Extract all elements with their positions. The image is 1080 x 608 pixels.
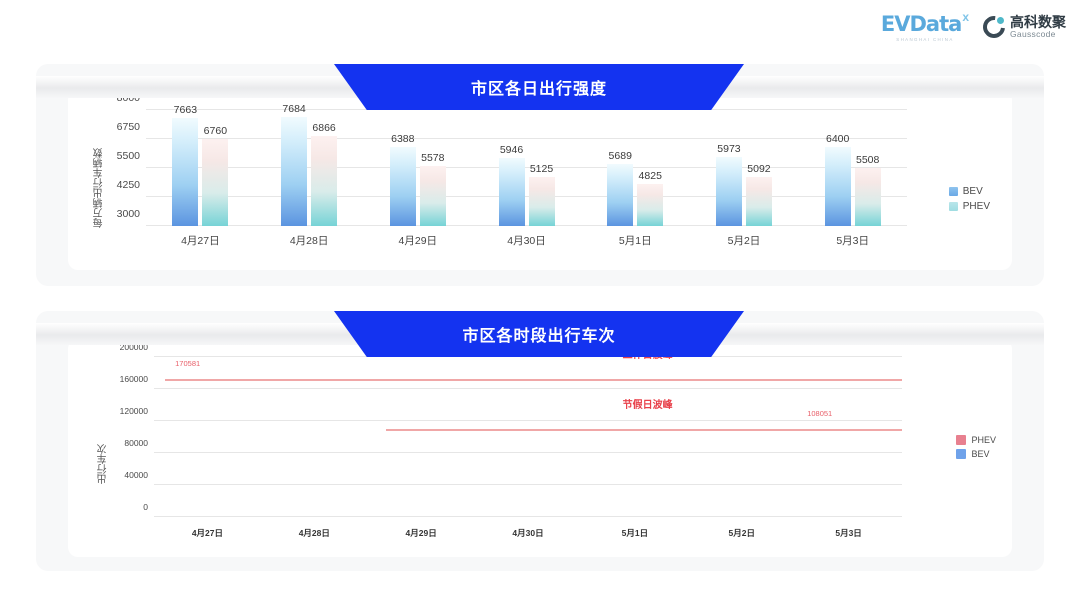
hourly-inner-card: 04000080000120000160000200000工作日波峰170581…: [68, 339, 1012, 557]
hourly-y-tick: 120000: [120, 406, 148, 416]
daily-legend-item-bev[interactable]: BEV: [949, 186, 990, 197]
hourly-y-axis-label: 出行车次: [96, 394, 111, 484]
daily-bar-phev[interactable]: 5092: [746, 177, 772, 226]
daily-inner-card: 3000425055006750800076636760768468666388…: [68, 90, 1012, 270]
daily-y-tick: 3000: [117, 208, 140, 220]
daily-bar-value: 6866: [312, 122, 335, 134]
daily-y-tick: 6750: [117, 121, 140, 133]
daily-bar-group: 59735092: [690, 110, 799, 226]
hourly-y-tick: 40000: [124, 470, 148, 480]
daily-x-tick: 5月3日: [798, 233, 907, 248]
daily-bar-phev[interactable]: 5508: [855, 168, 881, 226]
daily-bar-bev[interactable]: 5946: [499, 158, 525, 226]
legend-swatch-icon: [949, 187, 958, 196]
daily-bar-group: 63885578: [363, 110, 472, 226]
daily-x-tick: 4月28日: [255, 233, 364, 248]
daily-bar-value: 5578: [421, 152, 444, 164]
daily-bars-area: 7663676076846866638855785946512556894825…: [146, 110, 907, 226]
daily-bar-value: 5092: [747, 163, 770, 175]
daily-bar-value: 5508: [856, 154, 879, 166]
holiday-peak-line: [386, 429, 902, 431]
legend-label: BEV: [963, 186, 983, 197]
gausscode-logo-cn: 高科数聚: [1010, 15, 1066, 30]
hourly-x-tick: 4月30日: [475, 527, 582, 539]
hourly-x-tick: 5月1日: [581, 527, 688, 539]
daily-banner: 市区各日出行强度: [36, 64, 1044, 110]
daily-bar-phev[interactable]: 6760: [202, 139, 228, 226]
daily-bar-phev[interactable]: 6866: [311, 136, 337, 226]
hourly-banner: 市区各时段出行车次: [36, 311, 1044, 357]
daily-bar-value: 5689: [609, 150, 632, 162]
daily-bar-bev[interactable]: 6400: [825, 147, 851, 226]
daily-y-tick: 4250: [117, 179, 140, 191]
daily-bar-value: 5125: [530, 163, 553, 175]
gausscode-mark-icon: [983, 16, 1005, 38]
hourly-chart-legend[interactable]: PHEVBEV: [956, 435, 996, 459]
daily-x-tick: 4月29日: [363, 233, 472, 248]
gausscode-logo-en: Gausscode: [1010, 30, 1066, 39]
daily-bar-value: 5973: [717, 143, 740, 155]
daily-x-tick: 5月1日: [581, 233, 690, 248]
daily-bar-bev[interactable]: 5689: [607, 164, 633, 226]
weekday-peak-line: [165, 379, 902, 381]
legend-swatch-icon: [949, 202, 958, 211]
daily-bar-group: 59465125: [472, 110, 581, 226]
daily-bar-phev[interactable]: 5578: [420, 166, 446, 226]
evdata-logo: EV Data x SHANGHAI CHINA: [881, 12, 969, 42]
hourly-chart-plot: 04000080000120000160000200000工作日波峰170581…: [154, 357, 902, 517]
evdata-logo-superscript: x: [962, 10, 969, 24]
daily-bar-phev[interactable]: 4825: [637, 184, 663, 226]
hourly-x-tick: 4月27日: [154, 527, 261, 539]
holiday-peak-value: 108051: [807, 409, 832, 418]
daily-bar-phev[interactable]: 5125: [529, 177, 555, 226]
daily-chart-legend[interactable]: BEVPHEV: [949, 186, 990, 212]
evdata-logo-main: EV Data x: [881, 12, 969, 36]
legend-swatch-icon: [956, 449, 966, 459]
daily-bar-group: 64005508: [798, 110, 907, 226]
daily-bar-value: 6760: [204, 125, 227, 137]
hourly-banner-shape: 市区各时段出行车次: [334, 311, 744, 357]
evdata-logo-subtitle: SHANGHAI CHINA: [896, 37, 953, 42]
hourly-y-tick: 0: [143, 502, 148, 512]
daily-bar-group: 56894825: [581, 110, 690, 226]
gausscode-logo: 高科数聚 Gausscode: [983, 15, 1066, 39]
daily-bar-value: 4825: [639, 170, 662, 182]
daily-bar-bev[interactable]: 7684: [281, 117, 307, 226]
weekday-peak-value: 170581: [175, 359, 200, 368]
legend-label: PHEV: [963, 201, 990, 212]
hourly-x-tick: 5月2日: [688, 527, 795, 539]
legend-label: BEV: [971, 449, 989, 459]
daily-x-tick: 4月30日: [472, 233, 581, 248]
daily-bar-bev[interactable]: 5973: [716, 157, 742, 226]
legend-label: PHEV: [971, 435, 996, 445]
gausscode-logo-text: 高科数聚 Gausscode: [1010, 15, 1066, 39]
daily-legend-item-phev[interactable]: PHEV: [949, 201, 990, 212]
legend-swatch-icon: [956, 435, 966, 445]
daily-bar-group: 76636760: [146, 110, 255, 226]
daily-bar-bev[interactable]: 7663: [172, 118, 198, 226]
daily-y-axis-label: 每万辆出行车辆数: [92, 108, 107, 228]
holiday-peak-label: 节假日波峰: [623, 396, 673, 411]
daily-chart-plot: 3000425055006750800076636760768468666388…: [146, 110, 907, 226]
evdata-logo-data-text: Data: [910, 12, 962, 36]
section-daily-intensity: 3000425055006750800076636760768468666388…: [36, 64, 1044, 286]
daily-banner-shape: 市区各日出行强度: [334, 64, 744, 110]
hourly-x-tick: 5月3日: [795, 527, 902, 539]
hourly-x-tick: 4月28日: [261, 527, 368, 539]
hourly-section-title: 市区各时段出行车次: [462, 322, 615, 346]
evdata-logo-ev-text: EV: [881, 12, 910, 36]
header-logos: EV Data x SHANGHAI CHINA 高科数聚 Gausscode: [881, 12, 1066, 42]
daily-bar-bev[interactable]: 6388: [390, 147, 416, 226]
daily-bar-value: 6388: [391, 133, 414, 145]
daily-y-tick: 5500: [117, 150, 140, 162]
hourly-x-axis-labels: 4月27日4月28日4月29日4月30日5月1日5月2日5月3日: [154, 527, 902, 539]
daily-section-title: 市区各日出行强度: [471, 75, 607, 99]
hourly-x-tick: 4月29日: [368, 527, 475, 539]
daily-bar-group: 76846866: [255, 110, 364, 226]
hourly-legend-item-phev[interactable]: PHEV: [956, 435, 996, 445]
daily-x-axis-labels: 4月27日4月28日4月29日4月30日5月1日5月2日5月3日: [146, 233, 907, 248]
hourly-legend-item-bev[interactable]: BEV: [956, 449, 996, 459]
daily-x-tick: 5月2日: [690, 233, 799, 248]
section-hourly-trips: 04000080000120000160000200000工作日波峰170581…: [36, 311, 1044, 571]
daily-bar-value: 6400: [826, 133, 849, 145]
daily-x-tick: 4月27日: [146, 233, 255, 248]
daily-bar-value: 5946: [500, 144, 523, 156]
hourly-y-tick: 80000: [124, 438, 148, 448]
hourly-y-tick: 160000: [120, 374, 148, 384]
hourly-bars-area: [154, 357, 902, 517]
